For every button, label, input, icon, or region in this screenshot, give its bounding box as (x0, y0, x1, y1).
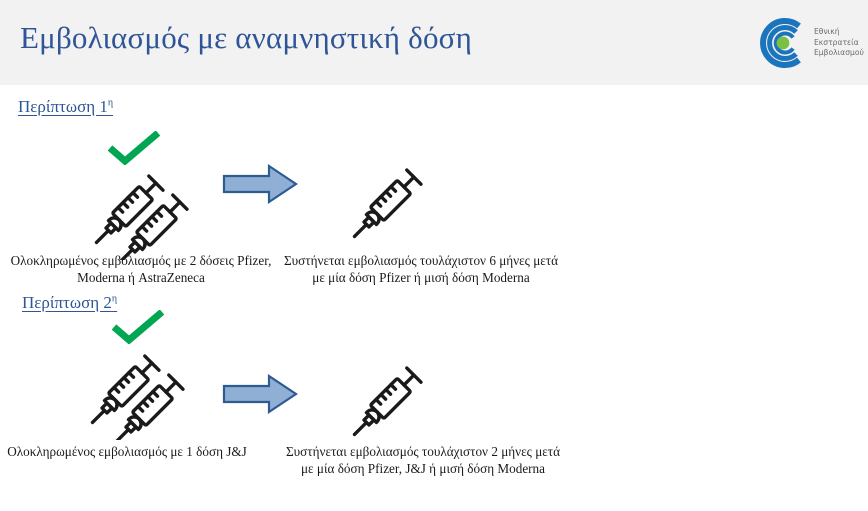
one-syringe-icon (340, 350, 435, 445)
case-2-right-caption: Συστήνεται εμβολιασμός τουλάχιστον 2 μήν… (280, 443, 566, 477)
logo-text-line1: Εθνική (814, 27, 840, 36)
case-2-heading-text: Περίπτωση 2 (22, 293, 112, 312)
case-2-left-caption: Ολοκληρωμένος εμβολιασμός με 1 δόση J&J (2, 443, 252, 460)
one-syringe-icon (340, 152, 435, 247)
two-syringes-icon (78, 330, 203, 440)
two-syringes-icon (82, 150, 207, 260)
case-2-heading-superscript: η (112, 293, 117, 304)
case-1-heading-superscript: η (108, 97, 113, 108)
right-arrow-icon (222, 373, 298, 415)
case-1-left-caption: Ολοκληρωμένος εμβολιασμός με 2 δόσεις Pf… (8, 252, 274, 286)
logo-text: Εθνική Εκστρατεία Εμβολιασμού (814, 27, 864, 59)
slide-header: Εμβολιασμός με αναμνηστική δόση Εθνική Ε… (0, 0, 868, 85)
logo: Εθνική Εκστρατεία Εμβολιασμού (757, 14, 865, 72)
page-title: Εμβολιασμός με αναμνηστική δόση (20, 17, 472, 59)
case-2-heading: Περίπτωση 2η (22, 293, 117, 313)
logo-text-line3: Εμβολιασμού (814, 48, 864, 57)
case-1-heading-text: Περίπτωση 1 (18, 97, 108, 116)
case-1-right-caption: Συστήνεται εμβολιασμός τουλάχιστον 6 μήν… (282, 252, 560, 286)
case-1-heading: Περίπτωση 1η (18, 97, 113, 117)
vaccination-campaign-logo-icon (757, 17, 809, 69)
right-arrow-icon (222, 163, 298, 205)
logo-text-line2: Εκστρατεία (814, 38, 859, 47)
